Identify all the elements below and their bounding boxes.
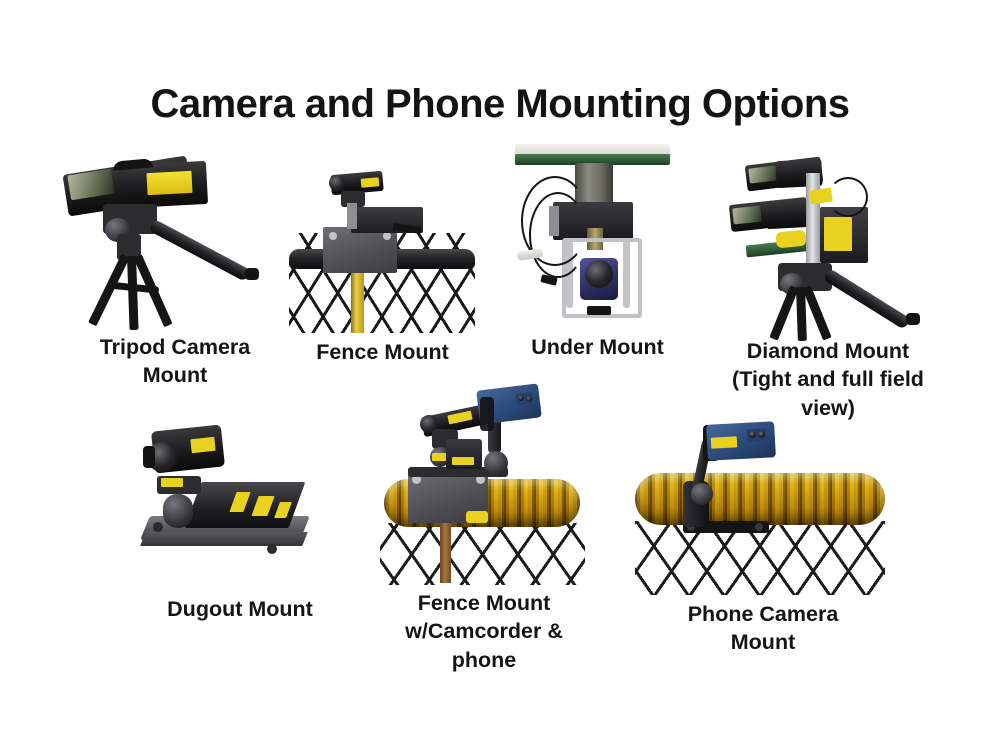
tripod-leg-right	[802, 285, 831, 340]
arm-ball-joint[interactable]	[691, 483, 713, 505]
diamond-mount-image	[710, 155, 945, 340]
caption-fence-mount: Fence Mount	[280, 338, 485, 366]
pan-handle[interactable]	[823, 268, 911, 330]
yellow-label-sticker	[361, 177, 380, 188]
under-mount-image	[505, 140, 690, 330]
item-under-mount: Under Mount	[505, 140, 690, 385]
cage-post-right	[623, 240, 630, 308]
item-diamond-mount: Diamond Mount (Tight and full field view…	[710, 155, 945, 405]
collar-yellow-sticker	[161, 478, 183, 487]
fence-mount-camcorder-phone-image	[380, 385, 585, 585]
page-title: Camera and Phone Mounting Options	[0, 82, 1000, 127]
phone-lens-2	[526, 396, 532, 402]
tripod-leg-left	[769, 285, 798, 340]
camera-lens	[329, 175, 345, 191]
caption-under-mount: Under Mount	[495, 333, 700, 361]
dugout-mount-image	[135, 420, 345, 585]
camera-cable-loop	[828, 177, 868, 217]
phone-ball-head[interactable]	[484, 451, 508, 475]
lens-hood	[143, 446, 155, 468]
rail-clamp-bolt-right[interactable]	[755, 523, 763, 531]
tripod-camera-mount-image	[55, 160, 295, 330]
ball-head[interactable]	[163, 494, 193, 528]
phone-grip-clamp[interactable]	[480, 397, 494, 431]
bracket-bolt-right[interactable]	[383, 232, 391, 240]
ball-head-yellow-sticker	[432, 453, 446, 461]
base-bolt-hole-left[interactable]	[153, 522, 163, 532]
vertical-bracket	[806, 173, 820, 269]
fence-post	[351, 265, 364, 333]
mount-riser-post	[347, 203, 357, 229]
phone-lens-2	[758, 431, 765, 438]
caption-fence-mount-camcorder-phone: Fence Mount w/Camcorder & phone	[364, 589, 604, 674]
chain-link-fence	[380, 523, 585, 585]
base-bolt-hole-right[interactable]	[267, 544, 277, 554]
center-module-sticker	[452, 457, 474, 465]
dugout-base-edge	[140, 532, 308, 546]
phone-lens-1	[749, 431, 756, 438]
camcorder-yellow-sticker	[190, 437, 215, 453]
pan-handle-tip	[245, 268, 259, 280]
ceiling-plate-top	[515, 144, 670, 154]
phone-lens-1	[518, 395, 524, 401]
fence-top-rail	[635, 473, 885, 525]
item-fence-mount: Fence Mount	[285, 165, 480, 385]
camera-lens	[585, 260, 613, 288]
signal-cable-loop	[529, 192, 587, 278]
caption-diamond-mount: Diamond Mount (Tight and full field view…	[698, 337, 958, 422]
yellow-label-sticker-shelf	[775, 229, 807, 248]
caption-phone-camera-mount: Phone Camera Mount	[623, 600, 903, 657]
lower-camcorder-screen	[732, 206, 762, 225]
item-phone-camera-mount: Phone Camera Mount	[635, 425, 890, 650]
pan-handle[interactable]	[148, 219, 251, 282]
item-dugout-mount: Dugout Mount	[135, 420, 345, 635]
caption-tripod-camera-mount: Tripod Camera Mount	[45, 333, 305, 390]
pan-handle-tip	[906, 313, 920, 325]
fence-post	[440, 521, 451, 583]
camera-base-clip	[587, 306, 611, 315]
caption-dugout-mount: Dugout Mount	[115, 595, 365, 623]
item-fence-mount-camcorder-phone: Fence Mount w/Camcorder & phone	[380, 385, 585, 660]
item-tripod-camera-mount: Tripod Camera Mount	[55, 160, 295, 390]
tripod-leg-left	[88, 254, 129, 326]
bracket-bolt-left[interactable]	[329, 232, 337, 240]
lower-camcorder-rear	[765, 199, 810, 229]
yellow-label-sticker	[146, 171, 192, 195]
fence-mount-image	[285, 165, 480, 335]
yellow-label-sticker-box	[824, 217, 852, 251]
phone-camera-mount-image	[635, 425, 890, 595]
phone-mount-sticker	[711, 436, 738, 448]
slide-canvas: Camera and Phone Mounting Options Tripod…	[0, 0, 1000, 739]
plate-yellow-sticker	[466, 511, 488, 523]
